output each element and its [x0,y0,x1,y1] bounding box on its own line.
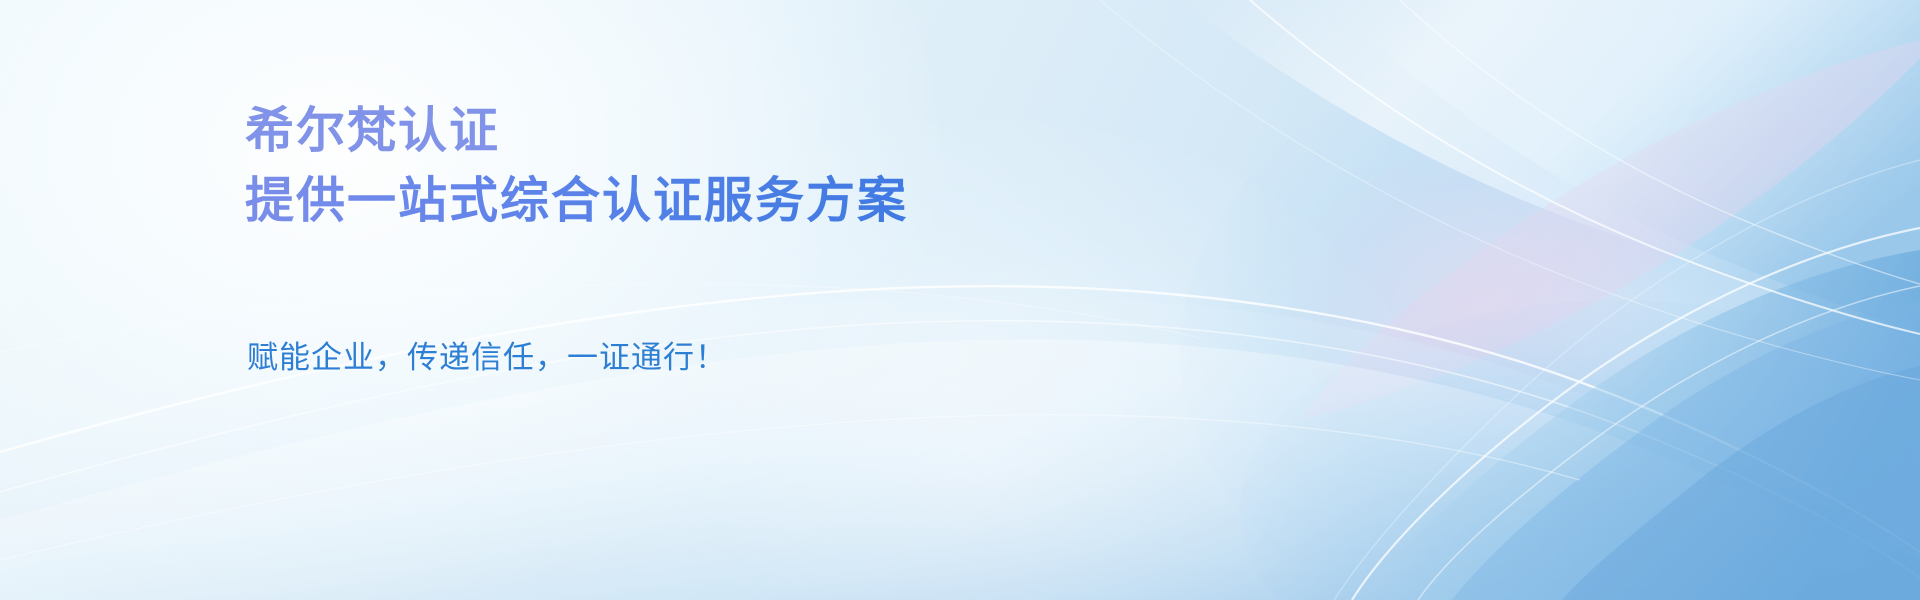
hero-subtitle: 赋能企业，传递信任，一证通行！ [247,336,727,380]
hero-text-block: 希尔梵认证 提供一站式综合认证服务方案 [245,96,908,236]
background-glow-pink [1290,150,1670,450]
hero-headline-line-2: 提供一站式综合认证服务方案 [245,166,908,236]
background-glow-bottom-right [1240,300,1920,600]
hero-headline-line-1: 希尔梵认证 [245,96,908,166]
hero-banner: 希尔梵认证 提供一站式综合认证服务方案 赋能企业，传递信任，一证通行！ [0,0,1920,600]
background-glow-top-left [0,0,940,600]
background-glow-right [1180,40,1920,600]
background-wave-graphic [0,0,1920,600]
